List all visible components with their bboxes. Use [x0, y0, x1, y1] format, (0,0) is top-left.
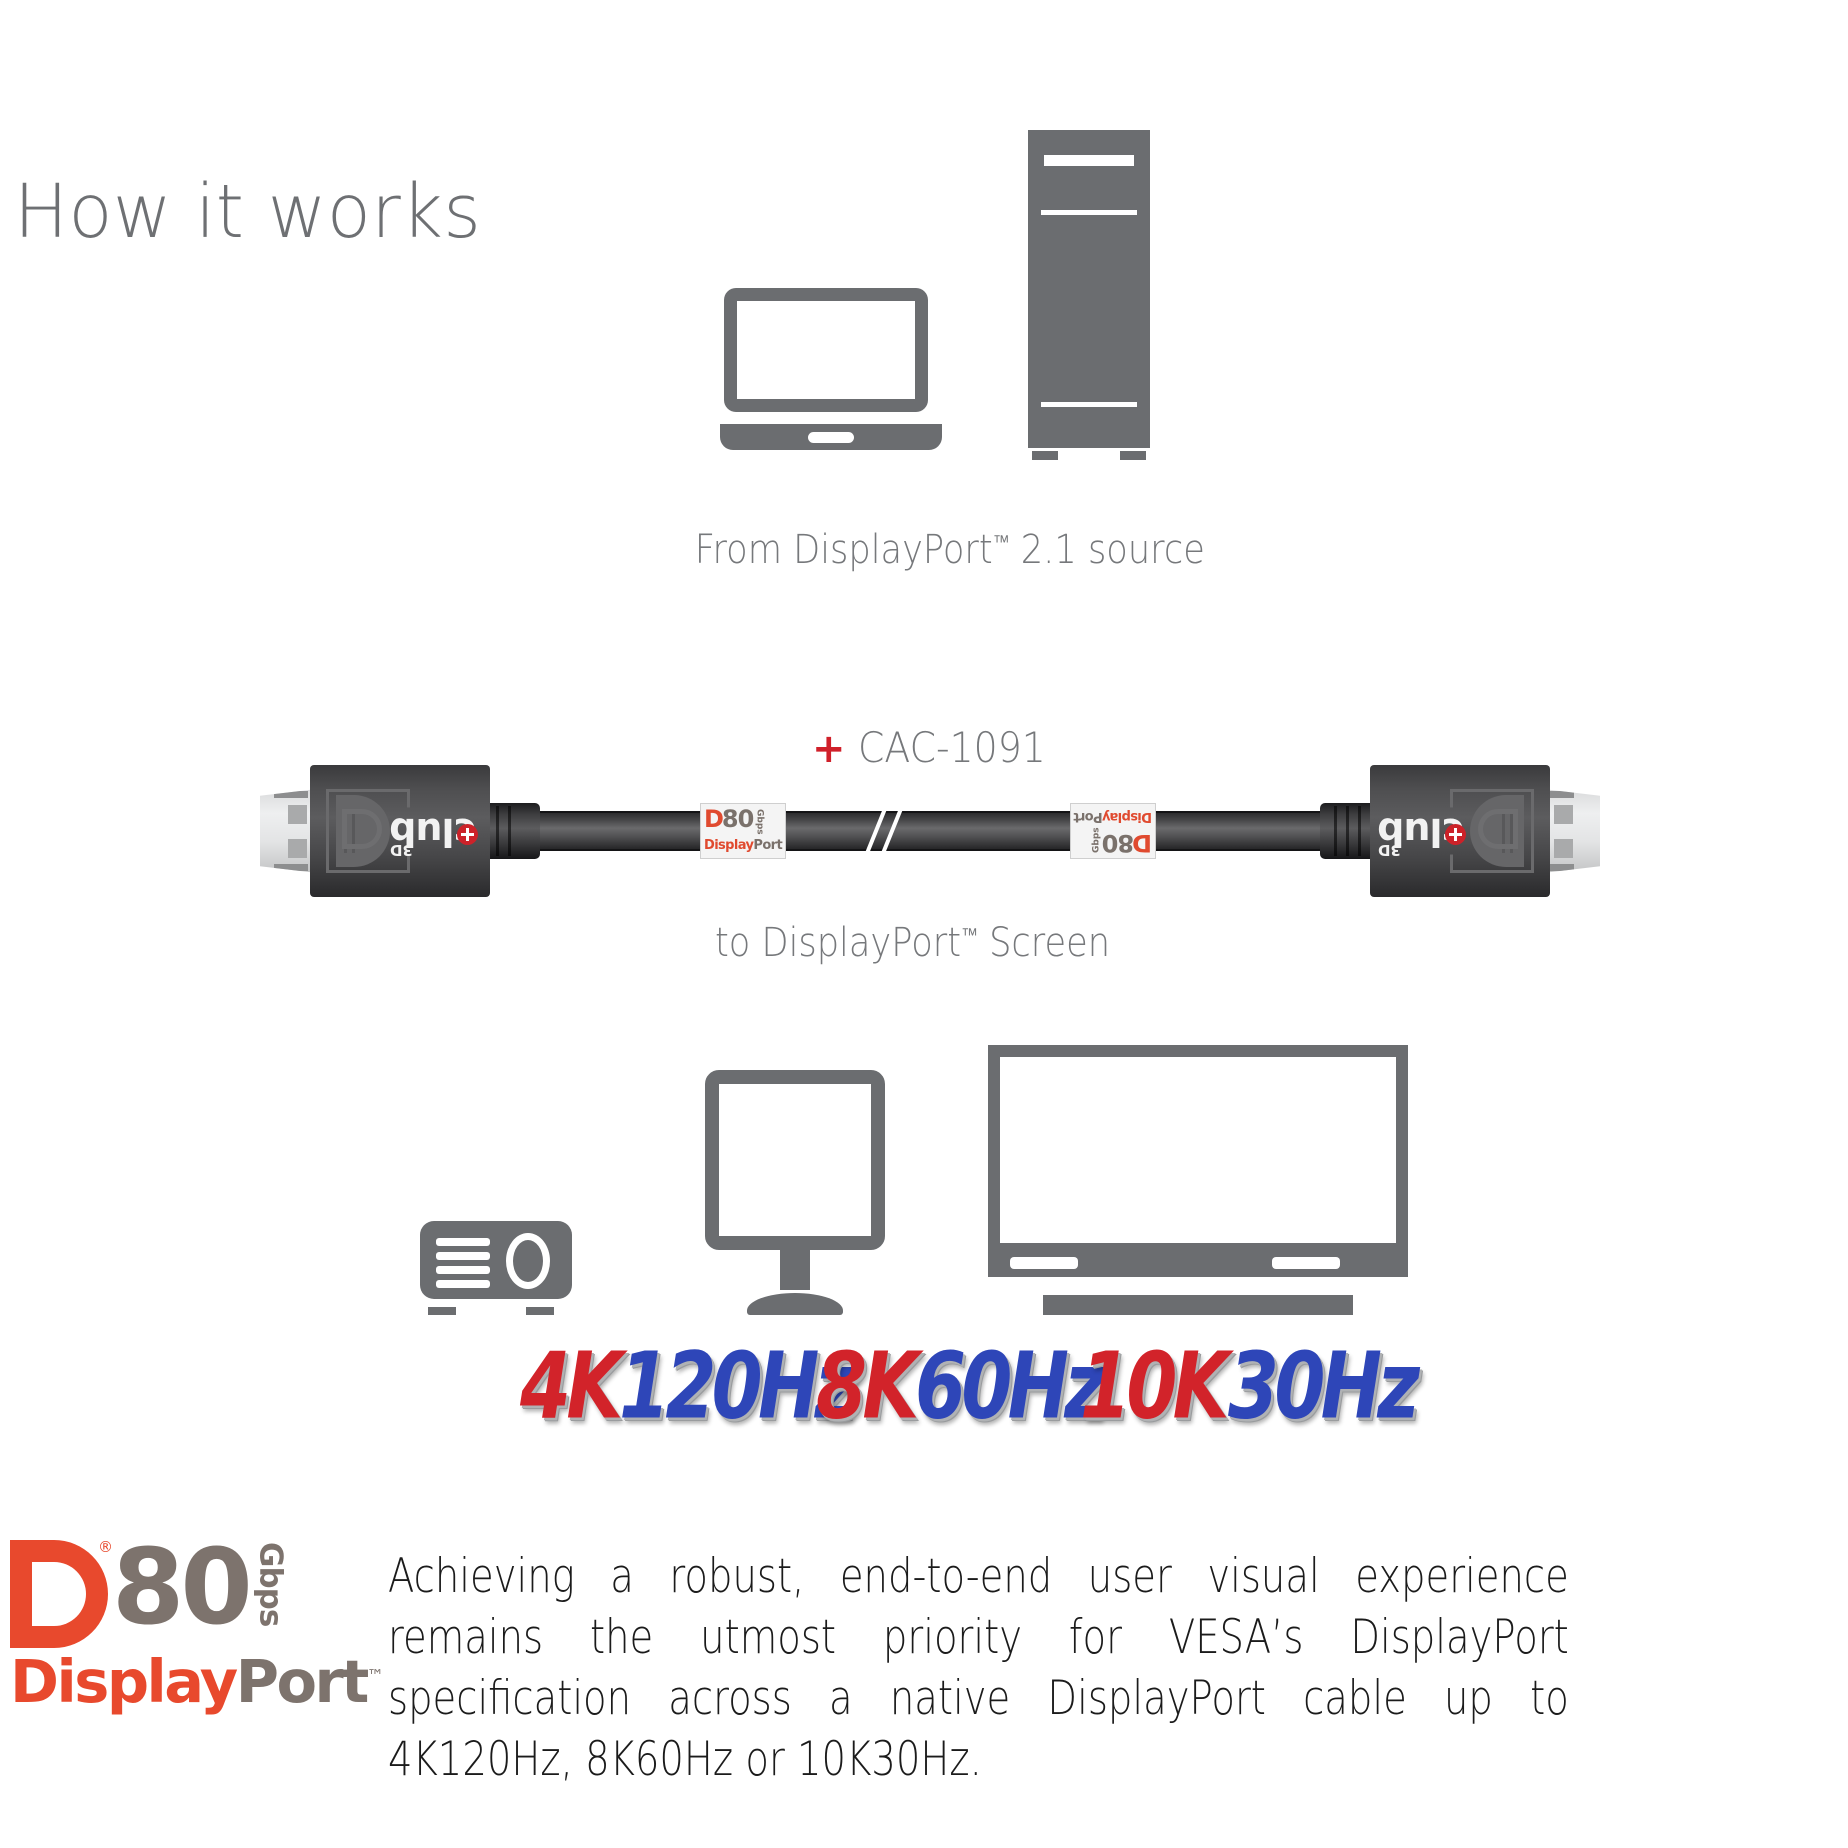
cable-label-bottom-row: DisplayPort	[1074, 809, 1152, 824]
badge-resolution: 8K	[816, 1341, 914, 1433]
club3d-3d-suffix: 3D	[390, 842, 413, 857]
cable-label-d: D	[1134, 831, 1152, 854]
tower-foot-left	[1032, 451, 1058, 460]
plug-pin	[288, 839, 307, 858]
projector-vent	[436, 1280, 490, 1288]
tower-seam-top	[1041, 210, 1137, 215]
club3d-brand-mark: club 3D	[388, 783, 484, 879]
club3d-plus-dot-icon	[1445, 824, 1466, 845]
projector-foot-left	[428, 1307, 456, 1315]
cable-label-d: D	[704, 808, 722, 831]
cable-jacket	[530, 811, 1330, 851]
tower-foot-right	[1120, 451, 1146, 460]
plug-pin	[1554, 839, 1573, 858]
sink-caption: to DisplayPort™ Screen	[715, 920, 1110, 966]
cable-label-bottom-row: DisplayPort	[704, 838, 782, 853]
club3d-d-mark-icon	[1478, 809, 1518, 849]
monitor-icon	[705, 1070, 885, 1315]
cable-certification-label: D 80 Gbps DisplayPort	[700, 803, 786, 859]
projector-lens	[506, 1233, 550, 1289]
projector-foot-right	[526, 1307, 554, 1315]
footer: ® 80 Gbps DisplayPort™ Achieving a robus…	[0, 1540, 1848, 1770]
resolution-badge-group: 4K 120Hz 8K 60Hz 10K 30Hz	[520, 1355, 1400, 1495]
laptop-screen	[724, 288, 928, 412]
displayport-connector-left: club 3D	[260, 765, 490, 897]
cable-label-speed: 80	[1103, 831, 1134, 854]
tv-icon	[988, 1045, 1408, 1315]
tower-drive-bay	[1041, 152, 1137, 169]
club3d-3d-suffix: 3D	[1378, 842, 1401, 857]
connector-shell-left: club 3D	[310, 765, 490, 897]
source-caption-trademark-icon: ™	[993, 531, 1010, 554]
sink-device-group	[400, 995, 1450, 1315]
displayport-logo-top-row: ® 80 Gbps	[10, 1540, 289, 1648]
displayport-cable: club 3D club 3D D 8	[200, 755, 1660, 905]
tower-seam-bottom	[1041, 402, 1137, 407]
cable-label-display: Display	[1103, 809, 1152, 824]
projector-vent	[436, 1266, 490, 1274]
projector-body	[420, 1221, 572, 1299]
cable-label-display: Display	[704, 838, 753, 853]
displayport-wordmark: DisplayPort™	[10, 1652, 381, 1711]
page-title: How it works	[14, 175, 481, 249]
displayport-80-logo: ® 80 Gbps DisplayPort™	[10, 1540, 360, 1730]
tv-stand	[1043, 1295, 1353, 1315]
trademark-icon: ™	[367, 1666, 382, 1686]
laptop-trackpad-notch	[808, 432, 854, 443]
source-device-group	[700, 130, 1160, 490]
badge-refresh-rate: 60Hz	[915, 1341, 1102, 1433]
projector-vent	[436, 1252, 490, 1260]
plug-pin	[1554, 805, 1573, 824]
displayport-speed-unit: Gbps	[253, 1542, 289, 1626]
projector-icon	[420, 1221, 572, 1315]
club3d-d-mark-icon	[342, 809, 382, 849]
cable-certification-label: D 80 Gbps DisplayPort	[1070, 803, 1156, 859]
source-caption-main: From DisplayPort	[695, 527, 993, 573]
cable-label-port: Port	[753, 838, 782, 853]
displayport-speed-value: 80	[112, 1540, 249, 1636]
cable-label-port: Port	[1074, 809, 1103, 824]
laptop-icon	[720, 288, 942, 428]
resolution-badge: 10K 30Hz	[1080, 1355, 1427, 1433]
monitor-base	[747, 1293, 843, 1315]
tower-chassis	[1028, 130, 1150, 448]
source-caption: From DisplayPort™ 2.1 source	[695, 527, 1205, 573]
registered-trademark-icon: ®	[98, 1538, 113, 1556]
cable-label-speed: 80	[722, 808, 753, 831]
cable-break-marker-icon	[852, 795, 922, 867]
tv-indicator-left	[1010, 1257, 1078, 1269]
sink-caption-trademark-icon: ™	[961, 924, 978, 947]
sink-caption-tail: Screen	[978, 920, 1110, 966]
plug-bar-top	[274, 791, 308, 798]
displayport-wordmark-port: Port	[236, 1647, 367, 1716]
description-paragraph: Achieving a robust, end-to-end user visu…	[388, 1546, 1569, 1790]
cable-label-top-row: D 80 Gbps	[1092, 827, 1152, 854]
tv-indicator-right	[1272, 1257, 1340, 1269]
sink-caption-main: to DisplayPort	[715, 920, 961, 966]
cable-label-top-row: D 80 Gbps	[704, 808, 764, 835]
cable-label-unit: Gbps	[754, 809, 764, 835]
displayport-d-stem	[10, 1540, 32, 1648]
cable-label-unit: Gbps	[1092, 827, 1102, 853]
desktop-tower-icon	[1028, 130, 1150, 460]
monitor-neck	[780, 1248, 810, 1290]
source-caption-tail: 2.1 source	[1010, 527, 1205, 573]
badge-resolution: 10K	[1080, 1341, 1225, 1433]
displayport-wordmark-display: Display	[10, 1647, 236, 1716]
displayport-d-mark-icon: ®	[10, 1540, 108, 1648]
displayport-connector-right: club 3D	[1370, 765, 1600, 897]
badge-resolution: 4K	[520, 1341, 618, 1433]
plug-bar-bottom	[274, 864, 308, 871]
plug-pin	[288, 805, 307, 824]
badge-refresh-rate: 30Hz	[1228, 1341, 1415, 1433]
club3d-plus-dot-icon	[457, 824, 478, 845]
resolution-badge: 8K 60Hz	[816, 1355, 1114, 1433]
monitor-screen	[705, 1070, 885, 1250]
connector-shell-right: club 3D	[1370, 765, 1550, 897]
projector-vent	[436, 1238, 490, 1246]
club3d-brand-mark: club 3D	[1376, 783, 1472, 879]
